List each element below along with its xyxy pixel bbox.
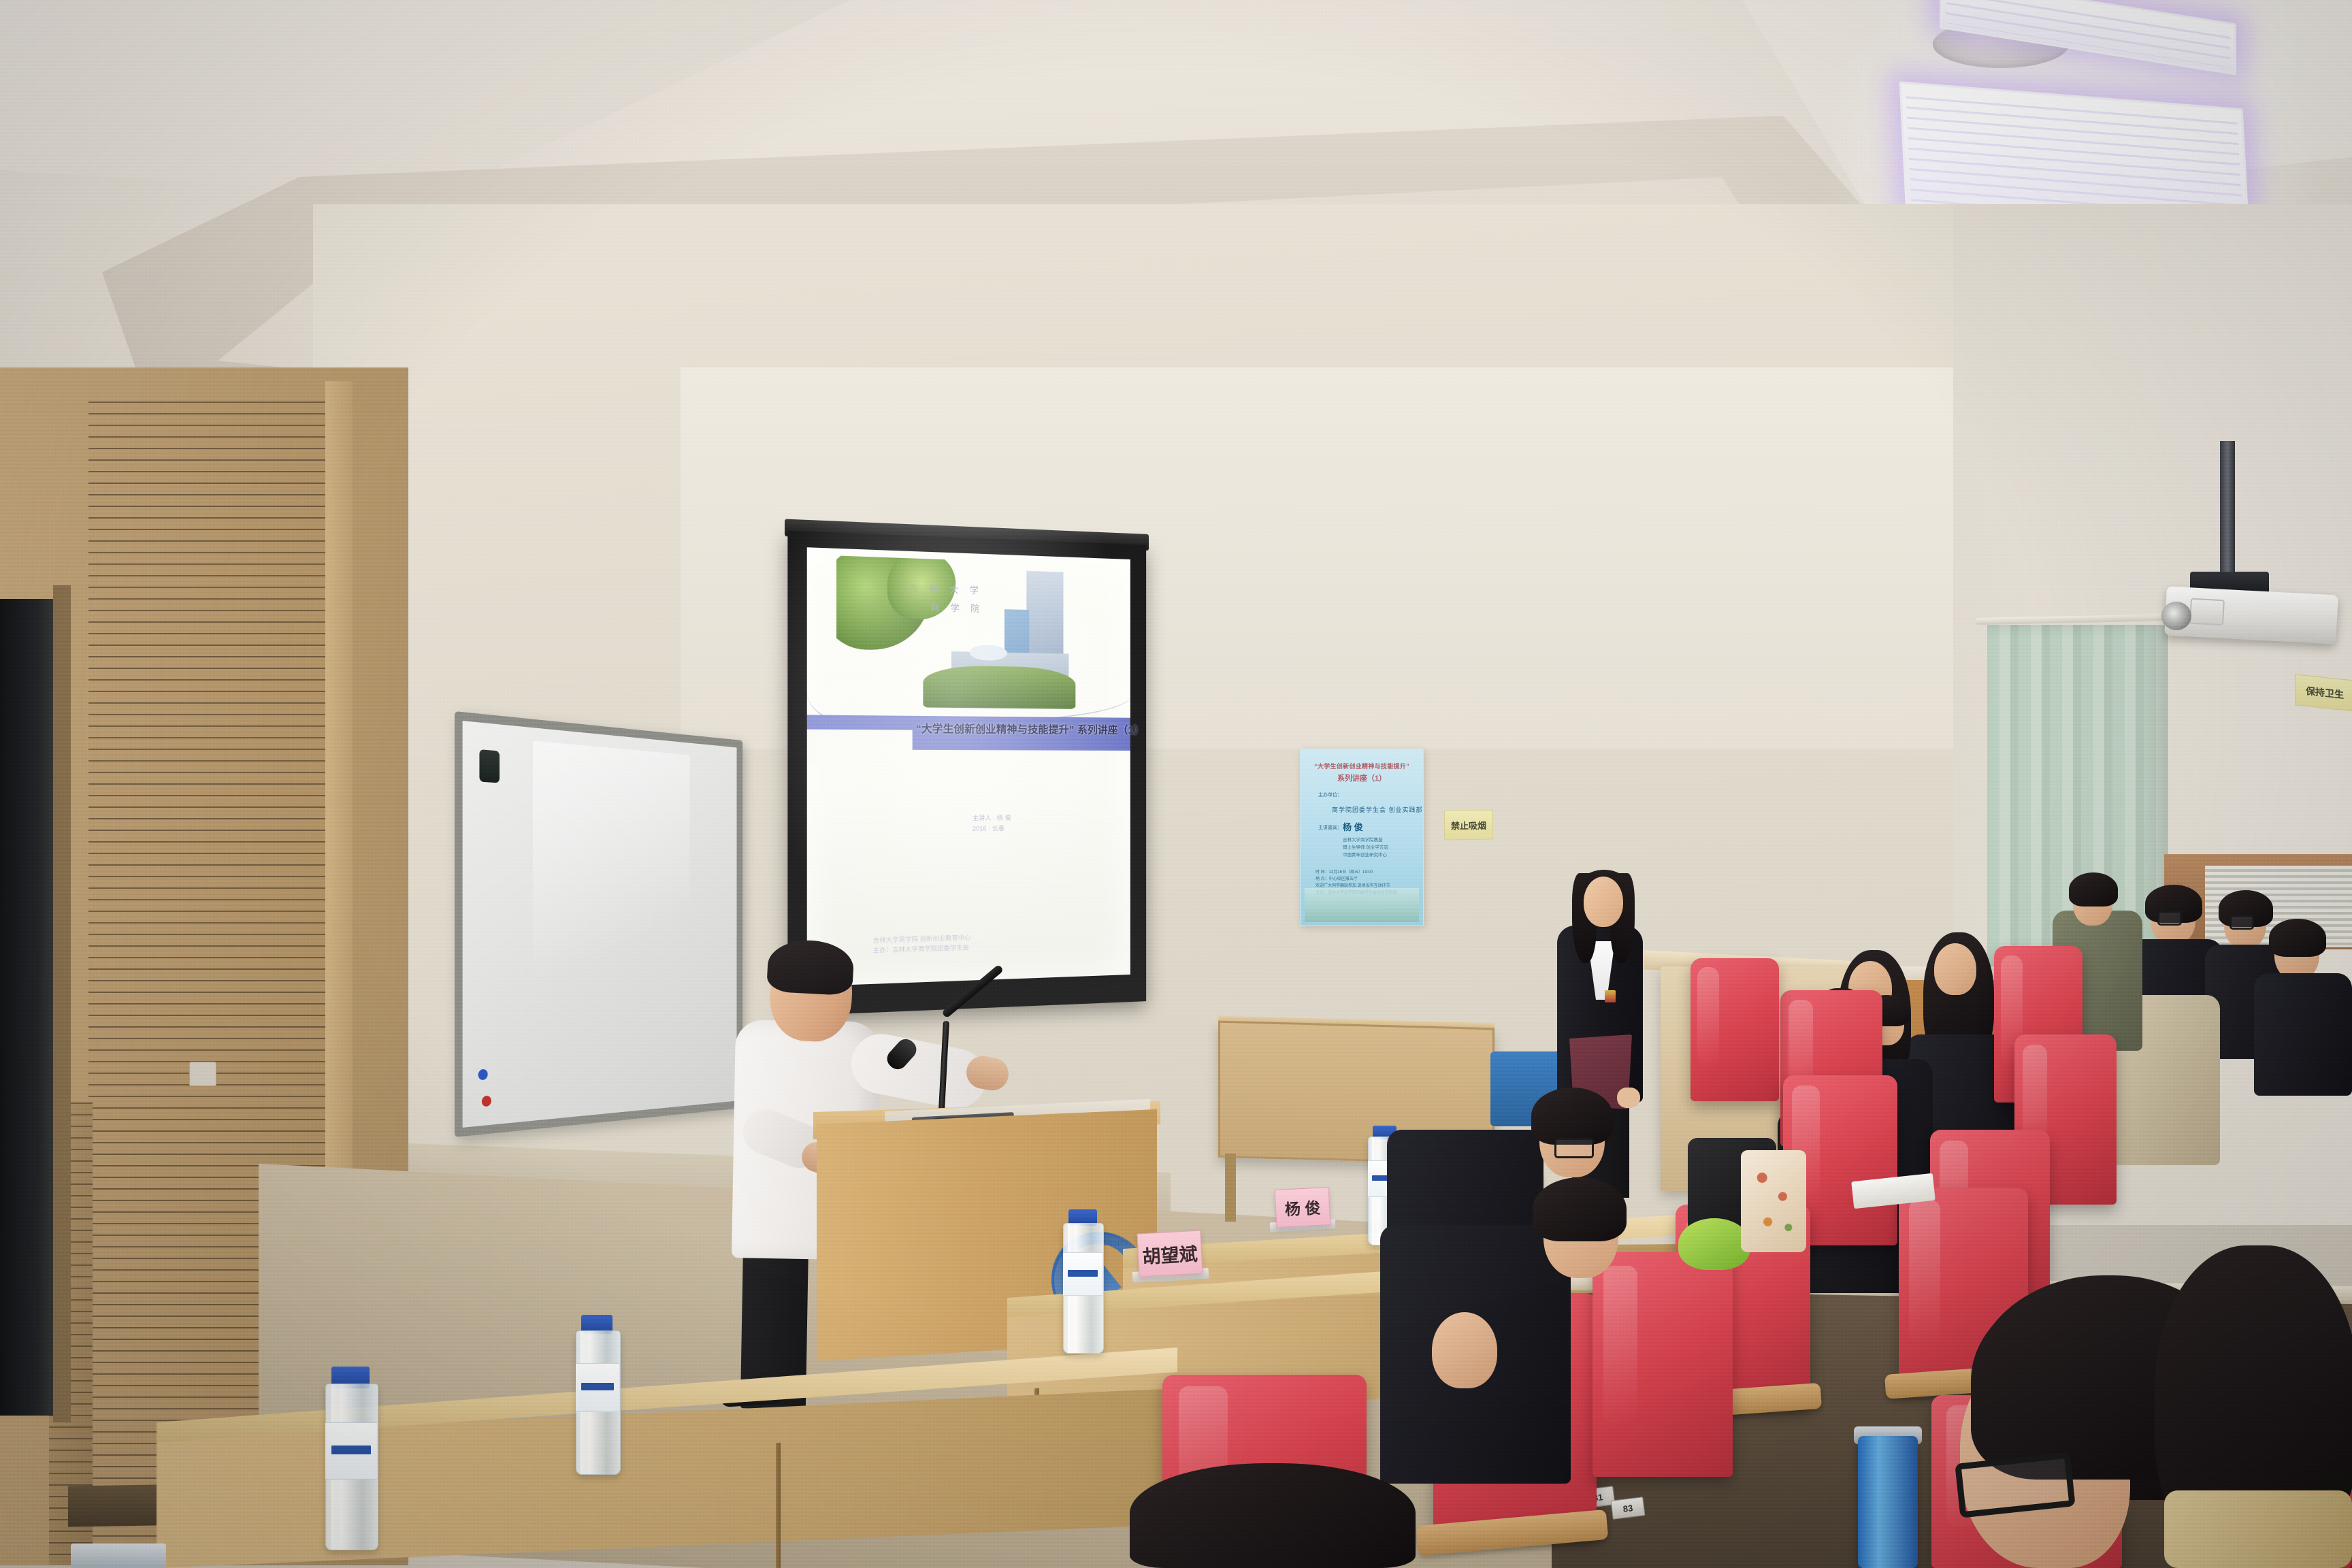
slide-campus-photo — [836, 555, 1129, 709]
slide-title: “大学生创新创业精神与技能提升” 系列讲座（1） — [916, 721, 1129, 737]
host-right-hand — [1617, 1088, 1640, 1108]
slide-institution-line2: 商 学 院 — [930, 599, 1049, 621]
audience-head — [1934, 943, 1976, 995]
audience-body — [2254, 973, 2352, 1096]
name-card-yang-jun: 杨 俊 — [1275, 1187, 1331, 1228]
poster-host-value: 商学院团委学生会 创业实践部 — [1332, 805, 1423, 814]
host-badge — [1605, 990, 1616, 1002]
audience-fur-collar — [2164, 1490, 2352, 1568]
glasses-icon — [2157, 911, 2182, 926]
power-outlet[interactable] — [189, 1062, 216, 1086]
bottle-label — [576, 1363, 619, 1412]
poster-title-line2: 系列讲座（1） — [1307, 772, 1416, 783]
lecture-hall-photo: 吉 林 大 学 商 学 院 “大学生创新创业精神与技能提升” 系列讲座（1） 主… — [0, 0, 2352, 1568]
floral-bag — [1741, 1150, 1806, 1252]
slide-footer: 吉林大学商学院 创新创业教育中心 主办：吉林大学商学院团委学生会 — [873, 930, 1069, 960]
green-helmet — [1678, 1218, 1750, 1270]
slide-band-notch — [807, 730, 913, 766]
projector-vent — [2189, 598, 2225, 626]
keep-clean-sign: 保持卫生 — [2295, 674, 2352, 711]
audience-hair — [2069, 872, 2118, 906]
table-divider — [776, 1443, 781, 1568]
projector-mount-pole — [2220, 441, 2235, 581]
whiteboard-eraser[interactable] — [479, 749, 500, 783]
event-poster: “大学生创新创业精神与技能提升” 系列讲座（1） 主办单位： 商学院团委学生会 … — [1300, 749, 1424, 926]
theater-seat[interactable] — [1592, 1252, 1733, 1477]
audience-hand — [1432, 1312, 1497, 1388]
foreground-white-object — [71, 1543, 166, 1568]
glasses-icon — [2229, 915, 2254, 930]
doorway[interactable] — [0, 599, 54, 1416]
bottle-label — [325, 1422, 377, 1480]
poster-speaker-name: 杨 俊 — [1343, 820, 1363, 833]
no-smoking-sign: 禁止吸烟 — [1444, 810, 1493, 840]
poster-campus-image — [1305, 888, 1419, 922]
theater-seat[interactable] — [1690, 958, 1779, 1101]
projection-screen-surface: 吉 林 大 学 商 学 院 “大学生创新创业精神与技能提升” 系列讲座（1） 主… — [807, 547, 1130, 986]
slide-subtitle: 主讲人 · 杨 俊 2016 · 长春 — [973, 813, 1102, 842]
bottle-label — [1063, 1252, 1102, 1296]
glasses-icon — [1554, 1138, 1594, 1158]
audience-hair — [2269, 919, 2326, 957]
projection-screen: 吉 林 大 学 商 学 院 “大学生创新创业精神与技能提升” 系列讲座（1） 主… — [785, 519, 1149, 1019]
poster-title-line1: “大学生创新创业精神与技能提升” — [1307, 762, 1416, 770]
audience-hair-front — [1533, 1177, 1627, 1241]
projection-screen-frame: 吉 林 大 学 商 学 院 “大学生创新创业精神与技能提升” 系列讲座（1） 主… — [787, 531, 1146, 1016]
whiteboard[interactable] — [455, 711, 742, 1137]
magnet-blue-icon[interactable] — [478, 1069, 488, 1081]
whiteboard-glare — [533, 740, 689, 1022]
name-card-hu-wangbin: 胡望斌 — [1137, 1230, 1203, 1277]
side-table-leg — [1225, 1154, 1236, 1222]
slide-institution-name: 吉 林 大 学 商 学 院 — [909, 580, 1048, 621]
audience-head-foreground — [1130, 1463, 1416, 1568]
door-jamb — [53, 585, 71, 1422]
poster-host-label: 主办单位： — [1318, 791, 1342, 798]
seat-number-plate: 83 — [1610, 1497, 1645, 1520]
poster-speaker-label: 主讲嘉宾： — [1318, 824, 1342, 831]
magnet-red-icon[interactable] — [482, 1096, 491, 1107]
blue-tumbler[interactable] — [1858, 1436, 1918, 1568]
host-head — [1584, 877, 1623, 927]
audience-hair-front — [1531, 1088, 1613, 1145]
poster-bio: 吉林大学商学院教授 博士生导师 创业学方向 中国青年创业研究中心 — [1343, 836, 1418, 859]
